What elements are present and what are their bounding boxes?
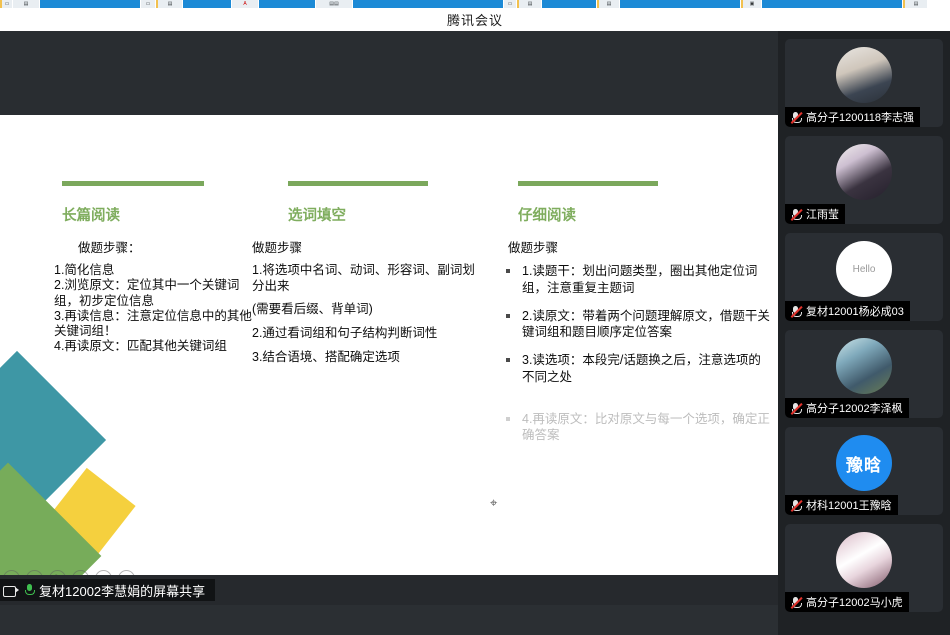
taskbar-window-button[interactable]: ▤ xyxy=(13,0,39,8)
avatar: 豫晗 xyxy=(836,435,892,491)
participant-tile[interactable]: 豫晗 材科12001王豫晗 xyxy=(785,427,943,515)
microphone-muted-icon xyxy=(790,208,801,221)
taskbar-window-button[interactable] xyxy=(183,0,231,8)
avatar xyxy=(836,338,892,394)
participant-name: 江雨莹 xyxy=(806,206,839,222)
participant-name-bar: 高分子12002李泽枫 xyxy=(785,398,909,418)
participant-tile[interactable]: Hello 复材12001杨必成03 xyxy=(785,233,943,321)
slide-column-3: 仔细阅读 做题步骤 1.读题干：划出问题类型，圈出其他定位词组，注意重复主题词 … xyxy=(500,181,770,455)
column-1-line: 3.再读信息：注意定位信息中的其他关键词组！ xyxy=(54,309,259,340)
participant-name: 高分子1200118李志强 xyxy=(806,109,914,125)
camera-icon xyxy=(3,584,19,596)
column-2-line: (需要看后缀、背单词) xyxy=(252,302,477,318)
column-2-line: 3.结合语境、搭配确定选项 xyxy=(252,350,477,366)
participant-name-bar: 复材12001杨必成03 xyxy=(785,301,910,321)
microphone-muted-icon xyxy=(790,305,801,318)
share-status-bar: 复材12002李慧娟的屏幕共享 xyxy=(0,575,778,605)
column-2-subtitle: 做题步骤 xyxy=(252,237,477,256)
column-2-line: 2.通过看词组和句子结构判断词性 xyxy=(252,326,477,342)
column-accent-bar xyxy=(288,181,428,186)
column-accent-bar xyxy=(518,181,658,186)
taskbar-window-button[interactable]: ▤ xyxy=(905,0,927,8)
participant-name-bar: 江雨莹 xyxy=(785,204,845,224)
column-accent-bar xyxy=(62,181,204,186)
taskbar-window-button[interactable]: ▤ xyxy=(599,0,619,8)
participant-tile[interactable]: 高分子12002李泽枫 xyxy=(785,330,943,418)
column-1-line: 1.简化信息 xyxy=(54,263,259,278)
mouse-cursor: ⌖ xyxy=(490,496,500,510)
slide-column-1: 长篇阅读 做题步骤： 1.简化信息 2.浏览原文：定位其中一个关键词组，初步定位… xyxy=(54,181,259,355)
participant-name: 高分子12002马小虎 xyxy=(806,594,903,610)
column-2-line: 1.将选项中名词、动词、形容词、副词划分出来 xyxy=(252,263,477,294)
microphone-muted-icon xyxy=(790,596,801,609)
slide-column-2: 选词填空 做题步骤 1.将选项中名词、动词、形容词、副词划分出来 (需要看后缀、… xyxy=(252,181,477,373)
meeting-title-bar: 腾讯会议 xyxy=(0,8,950,31)
taskbar-window-button[interactable] xyxy=(259,0,315,8)
column-3-bullet-list-dim: 4.再读原文：比对原文与每一个选项，确定正确答案 xyxy=(500,411,770,445)
taskbar-window-thumb[interactable]: ▣ xyxy=(743,0,761,8)
column-2-heading: 选词填空 xyxy=(288,204,477,225)
microphone-on-icon xyxy=(23,583,35,597)
column-1-line: 2.浏览原文：定位其中一个关键词组，初步定位信息 xyxy=(54,278,259,309)
participant-name-bar: 高分子12002马小虎 xyxy=(785,592,909,612)
taskbar-window-button[interactable] xyxy=(620,0,740,8)
taskbar-window-button[interactable] xyxy=(762,0,902,8)
presentation-slide[interactable]: 长篇阅读 做题步骤： 1.简化信息 2.浏览原文：定位其中一个关键词组，初步定位… xyxy=(0,115,778,588)
taskbar-window-button[interactable]: ▤ xyxy=(519,0,541,8)
taskbar-window-button[interactable]: ▤ xyxy=(158,0,182,8)
participant-name-bar: 高分子1200118李志强 xyxy=(785,107,920,127)
column-3-heading: 仔细阅读 xyxy=(518,204,770,225)
microphone-muted-icon xyxy=(790,499,801,512)
column-1-line: 4.再读原文：匹配其他关键词组 xyxy=(54,339,259,354)
participant-tile[interactable]: 高分子12002马小虎 xyxy=(785,524,943,612)
column-3-bullet: 3.读选项：本段完/话题换之后，注意选项的不同之处 xyxy=(500,352,770,386)
column-3-bullet: 1.读题干：划出问题类型，圈出其他定位词组，注意重复主题词 xyxy=(500,263,770,297)
participant-tile[interactable]: 江雨莹 xyxy=(785,136,943,224)
taskbar-window-button[interactable] xyxy=(542,0,596,8)
taskbar-window-button[interactable]: ▭ xyxy=(141,0,155,8)
column-1-heading: 长篇阅读 xyxy=(62,204,259,225)
bullet-spacer xyxy=(500,397,770,411)
shared-screen-stage[interactable]: 长篇阅读 做题步骤： 1.简化信息 2.浏览原文：定位其中一个关键词组，初步定位… xyxy=(0,31,778,605)
avatar xyxy=(836,532,892,588)
share-status-text: 复材12002李慧娟的屏幕共享 xyxy=(39,581,205,600)
microphone-muted-icon xyxy=(790,111,801,124)
avatar xyxy=(836,47,892,103)
taskbar-window-button[interactable]: ▤▤ xyxy=(316,0,352,8)
windows-taskbar[interactable]: ▭ ▤ ▭ ▤ A ▤▤ ▭ ▤ ▤ ▣ ▤ xyxy=(0,0,950,8)
participant-name: 材科12001王豫晗 xyxy=(806,497,892,513)
participant-name: 高分子12002李泽枫 xyxy=(806,400,903,416)
column-3-bullet-dimmed: 4.再读原文：比对原文与每一个选项，确定正确答案 xyxy=(500,411,770,445)
column-1-subtitle: 做题步骤： xyxy=(78,237,259,256)
taskbar-window-button[interactable] xyxy=(353,0,503,8)
taskbar-window-button[interactable]: ▭ xyxy=(504,0,516,8)
column-3-bullet-list: 1.读题干：划出问题类型，圈出其他定位词组，注意重复主题词 2.读原文：带着两个… xyxy=(500,263,770,386)
avatar: Hello xyxy=(836,241,892,297)
page-title: 腾讯会议 xyxy=(447,10,503,29)
column-3-subtitle: 做题步骤 xyxy=(508,237,770,256)
slide-columns: 长篇阅读 做题步骤： 1.简化信息 2.浏览原文：定位其中一个关键词组，初步定位… xyxy=(0,115,778,588)
taskbar-window-button[interactable] xyxy=(40,0,140,8)
microphone-muted-icon xyxy=(790,402,801,415)
avatar xyxy=(836,144,892,200)
taskbar-window-button[interactable]: ▭ xyxy=(2,0,12,8)
share-status-pill: 复材12002李慧娟的屏幕共享 xyxy=(0,579,215,601)
participant-name: 复材12001杨必成03 xyxy=(806,303,904,319)
letterbox-band xyxy=(0,31,778,115)
participant-sidebar[interactable]: 高分子1200118李志强 江雨莹 Hello 复材12001杨必成03 高分子… xyxy=(778,31,950,635)
participant-tile[interactable]: 高分子1200118李志强 xyxy=(785,39,943,127)
participant-name-bar: 材科12001王豫晗 xyxy=(785,495,898,515)
taskbar-acrobat-button[interactable]: A xyxy=(232,0,258,8)
column-3-bullet: 2.读原文：带着两个问题理解原文，借题干关键词组和题目顺序定位答案 xyxy=(500,308,770,342)
